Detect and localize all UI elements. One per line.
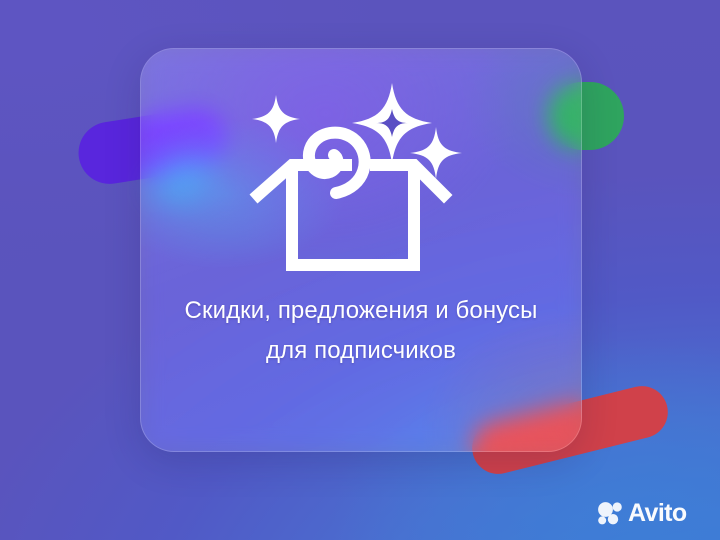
avito-logo: Avito <box>597 500 698 526</box>
avito-wordmark: Avito <box>628 500 698 526</box>
headline-line-1: Скидки, предложения и бонусы <box>151 291 571 331</box>
svg-text:Avito: Avito <box>628 500 687 526</box>
page-title: Скидки, предложения и бонусы для подписч… <box>151 291 571 371</box>
headline-line-2: для подписчиков <box>151 331 571 371</box>
gift-box-icon <box>246 65 476 287</box>
promo-banner: Скидки, предложения и бонусы для подписч… <box>0 0 720 540</box>
glass-card: Скидки, предложения и бонусы для подписч… <box>140 48 582 452</box>
avito-dots-icon <box>597 501 623 525</box>
